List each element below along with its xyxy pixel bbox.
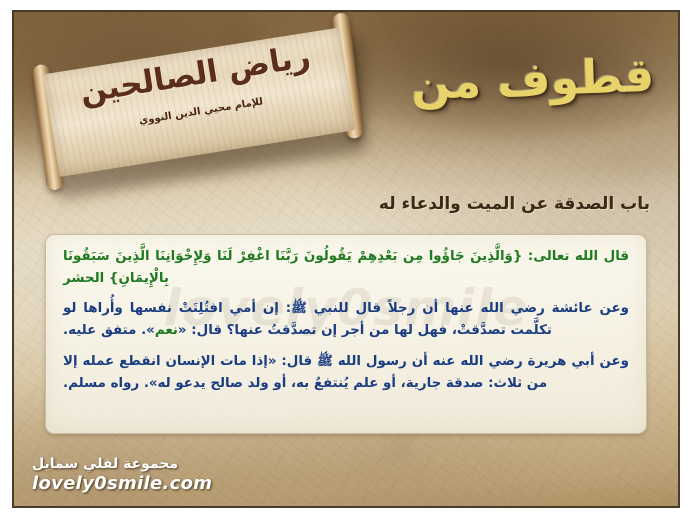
series-title: قطوف من: [410, 52, 655, 106]
hadith-abuhurayra-block: وعن أبي هريرة رضي الله عنه أن رسول الله …: [63, 351, 629, 394]
quran-verse-text: قال الله تعالى: {وَالَّذِينَ جَاؤُوا مِن…: [63, 249, 629, 286]
footer-credit: مجموعة لفلي سمايل lovely0smile.com: [32, 456, 212, 494]
header-band: رياض الصالحين للإمام محيي الدين النووي ق…: [14, 12, 678, 190]
footer-website: lovely0smile.com: [32, 473, 212, 494]
hadith-abuhurayra-text-before: وعن أبي هريرة رضي الله عنه أن رسول الله: [333, 354, 629, 369]
peace-be-upon-him-glyph-icon-2: ﷺ: [317, 354, 333, 369]
peace-be-upon-him-glyph-icon: ﷺ: [291, 301, 307, 316]
quran-verse-block: قال الله تعالى: {وَالَّذِينَ جَاؤُوا مِن…: [63, 246, 629, 289]
footer-group-name: مجموعة لفلي سمايل: [32, 456, 212, 472]
hadith-aisha-text-before: وعن عائشة رضي الله عنها أن رجلاً قال للن…: [307, 301, 629, 316]
chapter-heading: باب الصدقة عن الميت والدعاء له: [379, 194, 650, 214]
poster-root: رياض الصالحين للإمام محيي الدين النووي ق…: [0, 0, 692, 522]
hadith-aisha-highlight: نعم: [155, 323, 178, 338]
content-blocks: قال الله تعالى: {وَالَّذِينَ جَاؤُوا مِن…: [63, 246, 629, 394]
hadith-aisha-text-after: ». متفق عليه.: [63, 323, 155, 338]
poster-frame: رياض الصالحين للإمام محيي الدين النووي ق…: [12, 10, 680, 508]
hadith-aisha-block: وعن عائشة رضي الله عنها أن رجلاً قال للن…: [63, 298, 629, 341]
content-card: lovely0smile قال الله تعالى: {وَالَّذِين…: [45, 234, 647, 434]
quran-surah-name: الحشر: [63, 271, 104, 286]
